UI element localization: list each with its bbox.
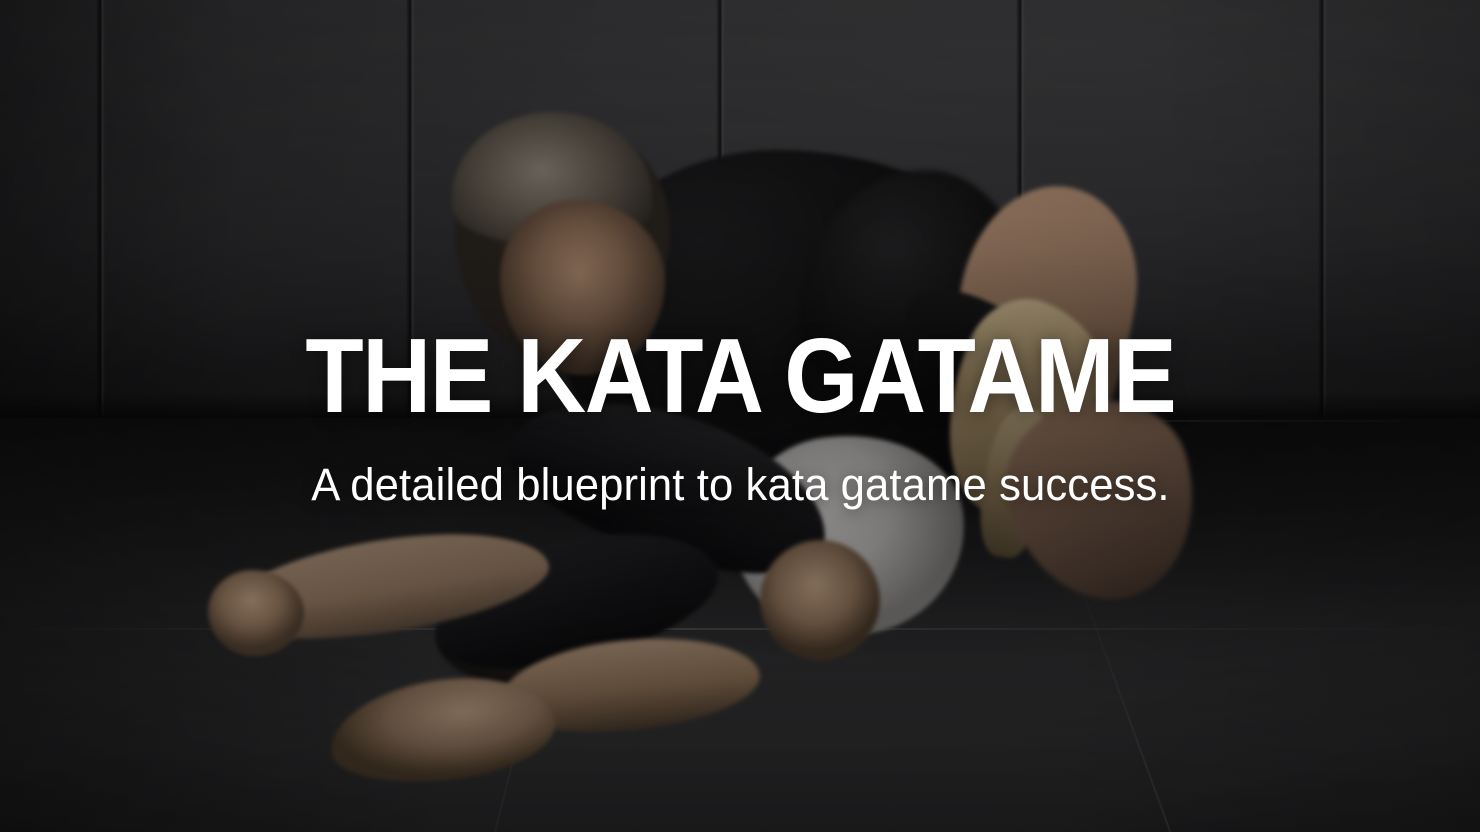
page-title: THE KATA GATAME — [305, 330, 1175, 422]
title-overlay: THE KATA GATAME A detailed blueprint to … — [0, 0, 1480, 832]
page-subtitle: A detailed blueprint to kata gatame succ… — [311, 460, 1169, 510]
hero-banner: THE KATA GATAME A detailed blueprint to … — [0, 0, 1480, 832]
